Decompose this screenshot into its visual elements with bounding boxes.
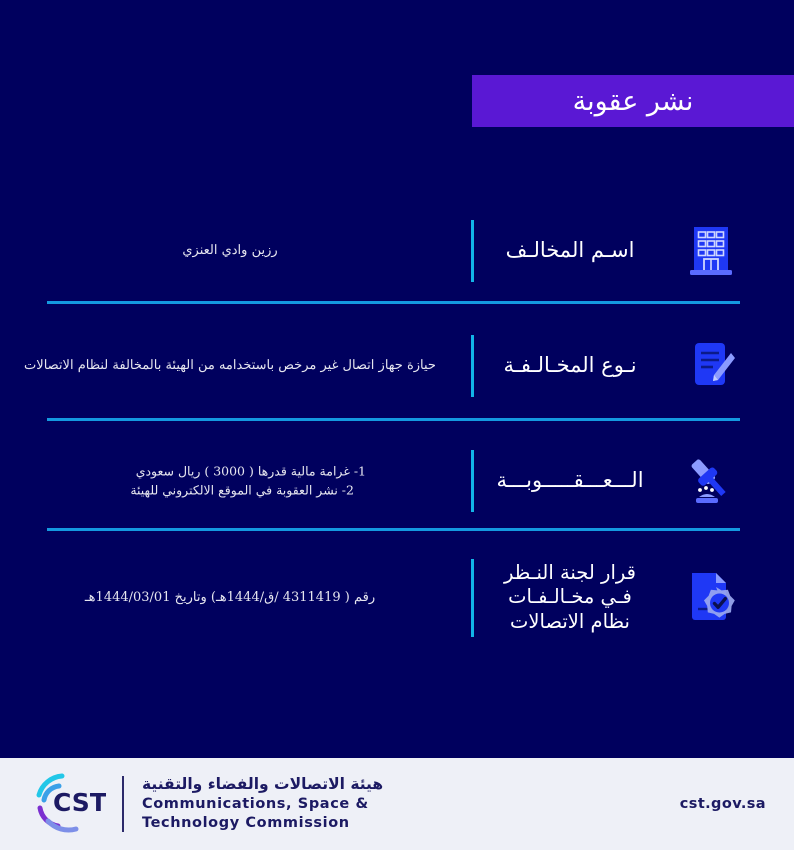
row-label: اسـم المخالـف xyxy=(480,238,660,264)
row-label: نـوع المخـالـفـة xyxy=(480,353,660,379)
decision-number-value: رقم ( 4311419 /ق/1444هـ) وتاريخ 1444/03/… xyxy=(16,587,444,607)
svg-text:CST: CST xyxy=(53,788,106,817)
penalty-items: 1- غرامة مالية قدرها ( 3000 ) ريال سعودي… xyxy=(16,462,444,500)
penalty-item: 1- غرامة مالية قدرها ( 3000 ) ريال سعودي xyxy=(16,462,366,481)
organization-name-en-line2: Technology Commission xyxy=(142,814,383,833)
divider xyxy=(47,418,740,421)
row-committee-decision: قرار لجنة النـظر فـي مخـالـفـات نظام الا… xyxy=(0,545,794,650)
organization-name-ar: هيئة الاتصالات والفضاء والتقنية xyxy=(142,775,383,793)
building-icon xyxy=(680,220,742,282)
document-pen-icon xyxy=(680,335,742,397)
footer: CST هيئة الاتصالات والفضاء والتقنية Comm… xyxy=(0,758,794,850)
row-accent-bar xyxy=(471,559,474,637)
divider xyxy=(47,301,740,304)
certificate-check-icon xyxy=(680,567,742,629)
page-title: نشر عقوبة xyxy=(573,86,694,117)
cst-logo: CST xyxy=(28,767,106,841)
row-violator-name: اسـم المخالـف رزين وادي العنزي xyxy=(0,210,794,292)
row-penalty: الـــعـــقـــــوبـــة 1- غرامة مالية قدر… xyxy=(0,440,794,522)
row-label: الـــعـــقـــــوبـــة xyxy=(480,468,660,494)
violator-name-value: رزين وادي العنزي xyxy=(16,241,444,261)
penalty-item: 2- نشر العقوبة في الموقع الالكتروني للهي… xyxy=(16,481,366,500)
organization-name-en-line1: Communications, Space & xyxy=(142,795,383,814)
divider xyxy=(47,528,740,531)
row-accent-bar xyxy=(471,450,474,512)
penalty-publication-poster: نشر عقوبة xyxy=(0,0,794,850)
row-label: قرار لجنة النـظر فـي مخـالـفـات نظام الا… xyxy=(480,561,660,635)
row-accent-bar xyxy=(471,335,474,397)
row-label-line: قرار لجنة النـظر xyxy=(480,561,660,586)
title-banner: نشر عقوبة xyxy=(472,75,794,127)
website-url[interactable]: cst.gov.sa xyxy=(680,796,766,812)
row-label-line: نظام الاتصالات xyxy=(480,610,660,635)
row-violation-type: نـوع المخـالـفـة حيازة جهاز اتصال غير مر… xyxy=(0,325,794,407)
row-accent-bar xyxy=(471,220,474,282)
footer-divider xyxy=(122,776,124,832)
footer-organization: هيئة الاتصالات والفضاء والتقنية Communic… xyxy=(142,775,383,832)
row-label-line: فـي مخـالـفـات xyxy=(480,585,660,610)
violation-type-value: حيازة جهاز اتصال غير مرخص باستخدامه من ا… xyxy=(16,356,444,376)
gavel-icon xyxy=(680,450,742,512)
